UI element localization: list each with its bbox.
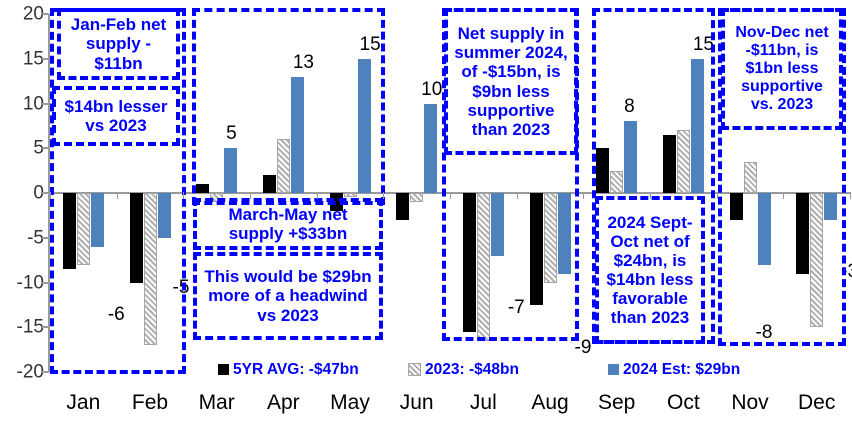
- annotation-text: Jan-Feb net supply - $11bn: [64, 15, 173, 72]
- y-axis-tick-mark: [42, 13, 49, 15]
- legend-label: 2023: -$48bn: [425, 362, 519, 378]
- legend-label: 5YR AVG: -$47bn: [233, 362, 359, 378]
- annotation-jan-feb-vs-2023: $14bn lesser vs 2023: [52, 86, 180, 146]
- y-axis-tick-mark: [42, 326, 49, 328]
- y-axis-tick-label: 20: [23, 5, 44, 24]
- legend-label: 2024 Est: $29bn: [623, 362, 740, 378]
- annotation-mar-may-headwind: This would be $29bn more of a headwind v…: [193, 252, 383, 340]
- annotation-mar-may-group-frame: [192, 8, 385, 205]
- annotation-text: 2024 Sept-Oct net of $24bn, is $14bn les…: [602, 213, 698, 327]
- x-axis-tick-mark: [383, 192, 384, 199]
- legend-swatch-icon: [218, 364, 229, 375]
- legend-item-s2024[interactable]: 2024 Est: $29bn: [608, 362, 740, 378]
- bar-s2023-jun: [410, 193, 423, 202]
- y-axis-tick-mark: [42, 371, 49, 373]
- legend-item-s5yr[interactable]: 5YR AVG: -$47bn: [218, 362, 359, 378]
- x-axis-tick-mark: [117, 192, 118, 199]
- legend-item-s2023[interactable]: 2023: -$48bn: [408, 362, 519, 378]
- bar-s5yr-jun: [396, 193, 409, 220]
- annotation-text: Nov-Dec net -$11bn, is $1bn less support…: [728, 24, 836, 114]
- bar-group: [396, 14, 437, 372]
- x-axis-tick-mark: [250, 192, 251, 199]
- annotation-jan-feb-net-supply: Jan-Feb net supply - $11bn: [57, 8, 180, 80]
- chart-root: 20151050-5-10-15-20 -6-55131510-7-9815-8…: [0, 0, 852, 424]
- x-axis-tick-mark: [783, 192, 784, 199]
- x-axis-tick-mark: [450, 192, 451, 199]
- annotation-summer-net-supply: Net supply in summer 2024, of -$15bn, is…: [444, 8, 578, 155]
- annotation-text: This would be $29bn more of a headwind v…: [200, 267, 376, 324]
- y-axis-tick-mark: [42, 58, 49, 60]
- annotation-text: March-May net supply +$33bn: [200, 205, 376, 243]
- y-axis-tick-mark: [42, 103, 49, 105]
- x-axis-tick-mark: [317, 192, 318, 199]
- bar-s2024-jun: [424, 104, 437, 194]
- annotation-sep-oct-net: 2024 Sept-Oct net of $24bn, is $14bn les…: [595, 196, 705, 344]
- y-axis-tick-label: -10: [17, 273, 44, 292]
- y-axis-tick-label: 15: [23, 49, 44, 68]
- x-axis-tick-mark: [850, 192, 851, 199]
- bar-value-label: 10: [421, 80, 442, 99]
- annotation-text: Net supply in summer 2024, of -$15bn, is…: [451, 24, 571, 138]
- x-axis-tick-mark: [650, 192, 651, 199]
- x-axis-tick-mark: [717, 192, 718, 199]
- y-axis-tick-mark: [42, 282, 49, 284]
- y-axis-tick-mark: [42, 237, 49, 239]
- legend-swatch-icon: [608, 364, 619, 375]
- x-axis-label-dec: Dec: [777, 392, 852, 413]
- annotation-mar-may-net-supply: March-May net supply +$33bn: [193, 198, 383, 250]
- x-axis-tick-mark: [183, 192, 184, 199]
- x-axis-tick-mark: [517, 192, 518, 199]
- y-axis-tick-label: -15: [17, 318, 44, 337]
- y-axis-tick-mark: [42, 192, 49, 194]
- y-axis-tick-label: 10: [23, 94, 44, 113]
- annotation-nov-dec-net: Nov-Dec net -$11bn, is $1bn less support…: [721, 8, 843, 130]
- x-axis-tick-mark: [583, 192, 584, 199]
- y-axis-tick-mark: [42, 147, 49, 149]
- legend-swatch-icon: [408, 363, 421, 376]
- annotation-text: $14bn lesser vs 2023: [59, 97, 173, 135]
- x-axis-tick-mark: [50, 192, 51, 199]
